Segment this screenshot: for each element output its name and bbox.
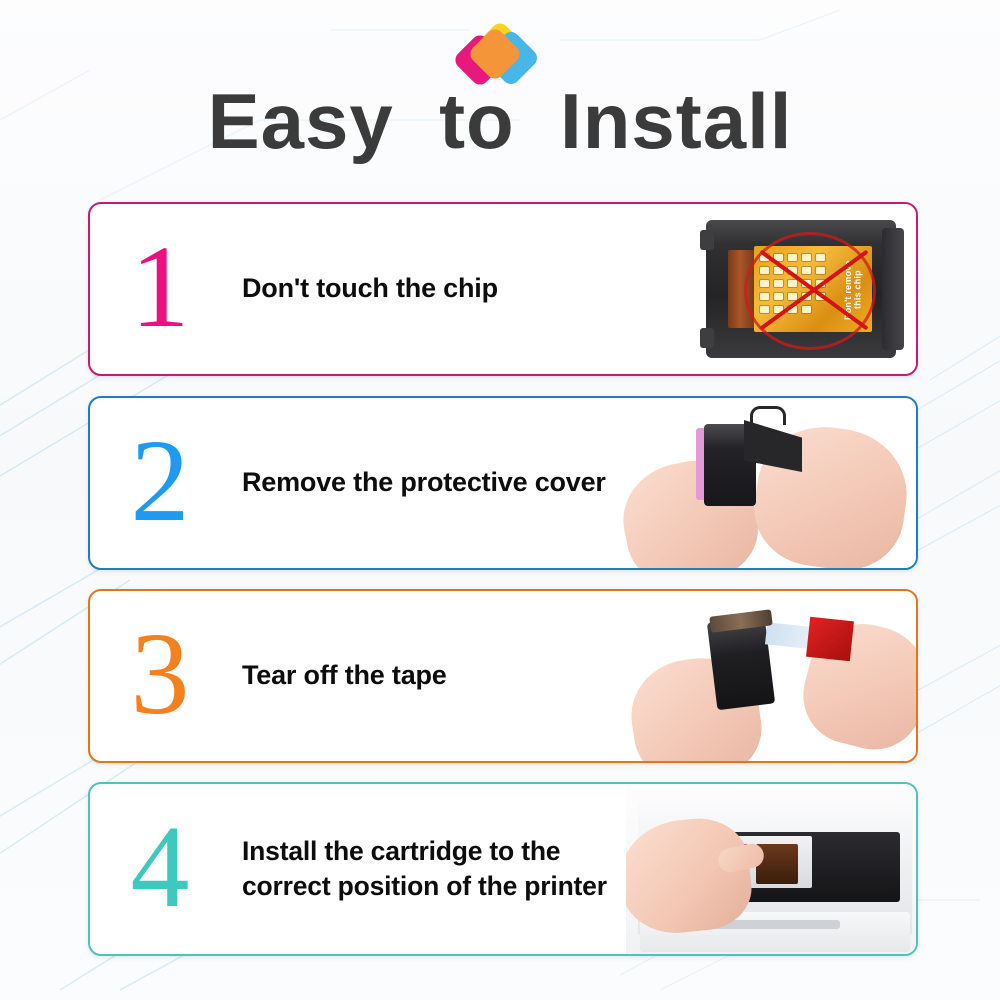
step-label-1: Don't touch the chip — [220, 271, 686, 307]
step-label-3: Tear off the tape — [220, 658, 616, 694]
logo-container — [0, 28, 1000, 84]
red-tape-tab — [806, 617, 854, 661]
step-label-2: Remove the protective cover — [220, 465, 616, 501]
step-number-2: 2 — [100, 422, 220, 540]
printer-install-photo: 64XL — [626, 784, 916, 954]
page-title: Easy to Install — [0, 82, 1000, 160]
hands-tearing-tape-photo — [616, 591, 916, 761]
step-card-4: 4 Install the cartridge to the correct p… — [88, 782, 918, 956]
step-label-4: Install the cartridge to the correct pos… — [220, 834, 626, 904]
step-number-1: 1 — [100, 228, 220, 346]
cartridge-body: Don't remove this chip — [706, 220, 896, 358]
hands-removing-cover-photo — [616, 398, 916, 568]
step-number-3: 3 — [100, 615, 220, 733]
cartridge-chip-photo: Don't remove this chip — [686, 204, 916, 374]
step-card-1: 1 Don't touch the chip Don't remove this… — [88, 202, 918, 376]
infographic-page: Easy to Install 1 Don't touch the chip D… — [0, 0, 1000, 1000]
step-number-4: 4 — [100, 808, 220, 926]
red-x-mark — [752, 240, 876, 340]
step-card-3: 3 Tear off the tape — [88, 589, 918, 763]
cartridge-side — [882, 228, 904, 350]
protective-cover — [744, 406, 812, 482]
step-card-2: 2 Remove the protective cover — [88, 396, 918, 570]
four-diamond-logo — [461, 28, 539, 84]
